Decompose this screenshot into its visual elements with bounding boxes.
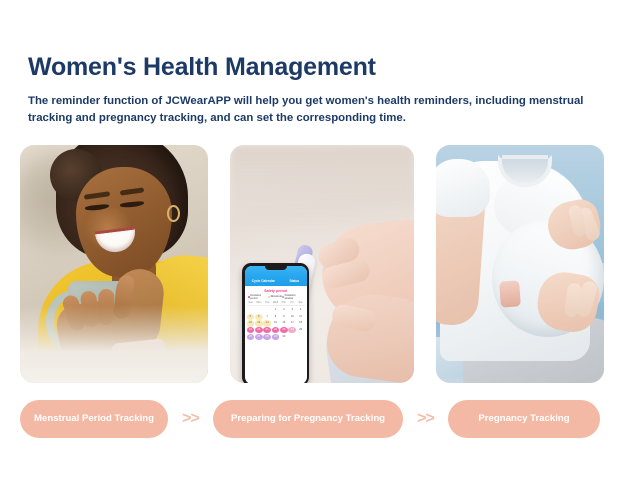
tab-cycle-calendar[interactable]: Cycle Calendar [252, 279, 275, 283]
chevron-right-icon: >> [168, 410, 213, 428]
process-steps-row: Menstrual Period Tracking >> Preparing f… [20, 398, 600, 440]
calendar-day[interactable]: 10 [288, 314, 296, 320]
weekday: Tue [263, 301, 271, 304]
calendar-day[interactable]: 5 [247, 314, 255, 320]
calendar-day-grid[interactable]: 1234567891011121314151617181920212223242… [247, 306, 305, 341]
calendar-day[interactable] [255, 307, 263, 313]
calendar-day[interactable]: 3 [288, 307, 296, 313]
phone-status-bar [245, 266, 307, 277]
weekday: Thu [280, 301, 288, 304]
weekday: Sun [247, 301, 255, 304]
legend-label: Ovulation window [284, 294, 303, 300]
weekday: Mon [255, 301, 263, 304]
page-title: Women's Health Management [28, 53, 376, 82]
calendar-day[interactable] [247, 307, 255, 313]
calendar-legend: Ovulation period Menstrual Ovulation win… [247, 294, 305, 301]
calendar-day[interactable]: 9 [280, 314, 288, 320]
calendar-day[interactable]: 4 [297, 307, 305, 313]
legend-label: Ovulation period [250, 294, 268, 300]
calendar-day[interactable] [288, 334, 296, 340]
calendar-day[interactable]: 28 [263, 334, 271, 340]
card-preparing-pregnancy-image: Cycle Calendar Status Safety period Ovul… [230, 145, 414, 383]
calendar-day[interactable]: 26 [247, 334, 255, 340]
legend-label: Menstrual [271, 295, 282, 298]
image-card-row: Cycle Calendar Status Safety period Ovul… [20, 145, 600, 383]
calendar-day[interactable]: 12 [247, 320, 255, 326]
calendar-day[interactable]: 18 [297, 320, 305, 326]
safety-period-label: Safety period [247, 289, 305, 293]
card-pregnancy-image [436, 145, 604, 383]
calendar-day[interactable] [297, 334, 305, 340]
calendar-day[interactable]: 13 [255, 320, 263, 326]
calendar-day[interactable] [263, 307, 271, 313]
illustration-woman-drinking-coffee [20, 145, 208, 383]
calendar-day[interactable]: 7 [263, 314, 271, 320]
weekday: Fri [288, 301, 296, 304]
card-menstrual-period-image [20, 145, 208, 383]
step-pill-pregnancy-tracking[interactable]: Pregnancy Tracking [448, 400, 600, 438]
page-subtitle: The reminder function of JCWearAPP will … [28, 93, 588, 126]
tab-status[interactable]: Status [289, 279, 299, 283]
calendar-day[interactable]: 6 [255, 314, 263, 320]
legend-ovulation-window: Ovulation window [282, 294, 304, 300]
calendar-day[interactable]: 29 [272, 334, 280, 340]
calendar-day[interactable]: 8 [272, 314, 280, 320]
step-pill-preparing-for-pregnancy-tracking[interactable]: Preparing for Pregnancy Tracking [213, 400, 403, 438]
calendar-day[interactable]: 21 [263, 327, 271, 333]
phone-device: Cycle Calendar Status Safety period Ovul… [242, 263, 309, 383]
calendar-day[interactable]: 16 [280, 320, 288, 326]
calendar-day[interactable]: 2 [280, 307, 288, 313]
calendar-day[interactable]: 17 [288, 320, 296, 326]
slide-root: Women's Health Management The reminder f… [0, 0, 620, 484]
legend-menstrual: Menstrual [268, 294, 282, 300]
calendar-day[interactable]: 14 [263, 320, 271, 326]
calendar-day[interactable]: 27 [255, 334, 263, 340]
calendar-day[interactable]: 19 [247, 327, 255, 333]
weekday: Sat [296, 301, 304, 304]
calendar-day[interactable]: 23 [280, 327, 288, 333]
phone-notch [265, 266, 287, 270]
legend-ovulation-period: Ovulation period [248, 294, 268, 300]
calendar-day[interactable]: 15 [272, 320, 280, 326]
step-pill-menstrual-period-tracking[interactable]: Menstrual Period Tracking [20, 400, 168, 438]
calendar-day[interactable]: 25 [297, 327, 305, 333]
phone-screen: Cycle Calendar Status Safety period Ovul… [245, 266, 307, 384]
illustration-pregnant-woman [436, 145, 604, 383]
calendar-day[interactable]: 30 [280, 334, 288, 340]
illustration-thermometer-and-phone: Cycle Calendar Status Safety period Ovul… [230, 145, 414, 383]
app-body: Safety period Ovulation period Menstrual… [245, 286, 307, 341]
calendar-day[interactable]: 24 [288, 327, 296, 333]
calendar-day[interactable]: 11 [297, 314, 305, 320]
app-tab-bar[interactable]: Cycle Calendar Status [245, 277, 307, 286]
calendar-day[interactable]: 22 [272, 327, 280, 333]
calendar-day[interactable]: 20 [255, 327, 263, 333]
fitness-band-icon [499, 280, 521, 307]
chevron-right-icon: >> [403, 410, 448, 428]
calendar-day[interactable]: 1 [272, 307, 280, 313]
weekday: Wed [271, 301, 279, 304]
